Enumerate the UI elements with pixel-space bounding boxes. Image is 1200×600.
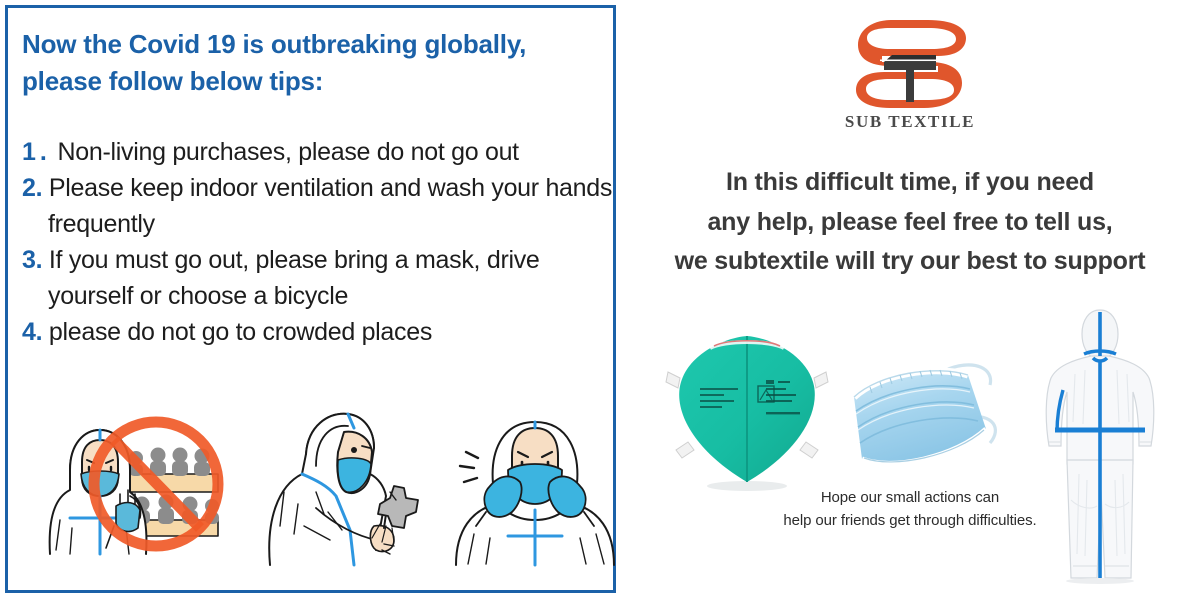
surgical-mask-image [840, 355, 1015, 485]
list-item: 3. If you must go out, please bring a ma… [22, 242, 614, 314]
hope-note-line-1: Hope our small actions can [620, 487, 1200, 510]
hope-note: Hope our small actions can help our frie… [620, 487, 1200, 532]
logo-wordmark: SUB TEXTILE [620, 112, 1200, 132]
put-on-mask-illustration [450, 400, 620, 570]
support-message-line-1: In this difficult time, if you need [620, 163, 1200, 203]
tip-text: If you must go out, please bring a mask,… [48, 246, 540, 310]
tip-number: 2. [22, 174, 42, 202]
tip-text: please do not go to crowded places [49, 318, 432, 346]
illustration-strip [26, 400, 606, 570]
company-panel: SUB TEXTILE In this difficult time, if y… [620, 0, 1200, 600]
no-crowd-illustration [30, 400, 225, 570]
tip-number: 3. [22, 246, 42, 274]
support-message-line-3: we subtextile will try our best to suppo… [620, 242, 1200, 282]
covid-tips-banner: Now the Covid 19 is outbreaking globally… [0, 0, 1200, 600]
support-message: In this difficult time, if you need any … [620, 163, 1200, 282]
list-item: 2. Please keep indoor ventilation and wa… [22, 170, 614, 242]
tip-text: Non-living purchases, please do not go o… [58, 138, 519, 166]
disinfectant-spray-illustration [258, 400, 433, 570]
tips-list: 1. Non-living purchases, please do not g… [22, 134, 614, 350]
tip-number: 1. [22, 138, 51, 166]
sub-textile-logo-icon [846, 18, 974, 110]
list-item: 4. please do not go to crowded places [22, 314, 614, 350]
tip-text: Please keep indoor ventilation and wash … [48, 174, 612, 238]
logo: SUB TEXTILE [620, 18, 1200, 132]
support-message-line-2: any help, please feel free to tell us, [620, 203, 1200, 243]
n95-respirator-mask-image [662, 330, 832, 495]
tips-heading-line-2: please follow below tips: [22, 63, 602, 100]
hope-note-line-2: help our friends get through difficultie… [620, 510, 1200, 533]
tips-heading-line-1: Now the Covid 19 is outbreaking globally… [22, 26, 602, 63]
page-title: Now the Covid 19 is outbreaking globally… [22, 26, 602, 100]
protective-coverall-image [1035, 304, 1165, 584]
tips-panel: Now the Covid 19 is outbreaking globally… [5, 5, 616, 593]
list-item: 1. Non-living purchases, please do not g… [22, 134, 614, 170]
product-gallery [620, 300, 1200, 600]
tip-number: 4. [22, 318, 42, 346]
